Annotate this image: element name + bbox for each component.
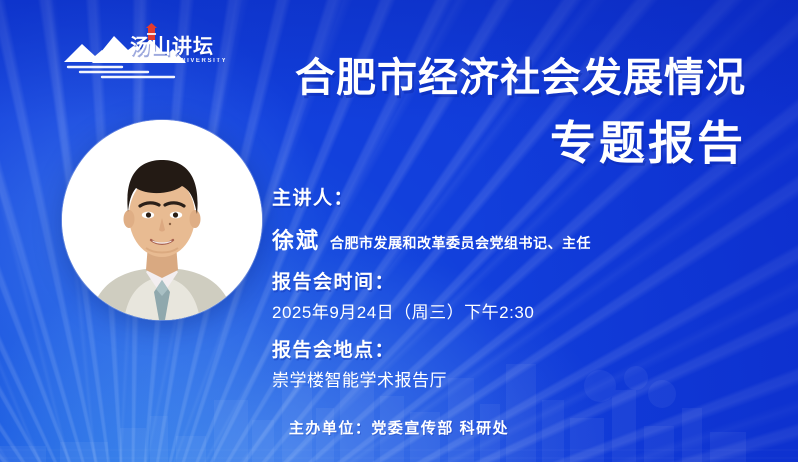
time-label: 报告会时间：: [272, 272, 692, 294]
speaker-label: 主讲人：: [272, 188, 692, 210]
logo-cn-text: 汤山讲坛: [130, 30, 214, 59]
location-value: 崇学楼智能学术报告厅: [272, 371, 692, 391]
headline: 合肥市经济社会发展情况 专题报告: [226, 58, 746, 166]
headline-line-1: 合肥市经济社会发展情况: [226, 58, 746, 98]
headline-line-2: 专题报告: [226, 120, 746, 166]
poster-canvas: 汤山讲坛 汤山讲坛 CHAOHU UNIVERSITY: [0, 0, 798, 462]
details-block: 主讲人： 徐斌 合肥市发展和改革委员会党组书记、主任 报告会时间： 2025年9…: [272, 188, 692, 391]
speaker-title: 合肥市发展和改革委员会党组书记、主任: [330, 233, 591, 253]
organizer-footer: 主办单位：党委宣传部 科研处: [0, 417, 798, 438]
speaker-row: 徐斌 合肥市发展和改革委员会党组书记、主任: [272, 223, 692, 255]
speaker-name: 徐斌: [272, 223, 320, 255]
brand-logo[interactable]: 汤山讲坛 汤山讲坛 CHAOHU UNIVERSITY: [62, 22, 240, 84]
logo-en-text: CHAOHU UNIVERSITY: [136, 58, 227, 64]
location-label: 报告会地点：: [272, 340, 692, 362]
time-value: 2025年9月24日（周三）下午2:30: [272, 303, 692, 323]
